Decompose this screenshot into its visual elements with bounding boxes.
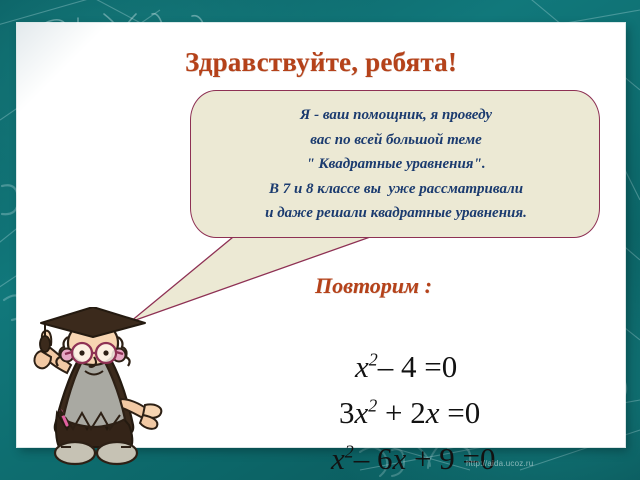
balloon-line-1: Я - ваш помощник, я проведу xyxy=(191,103,601,128)
equation-3-const: 9 xyxy=(439,441,455,476)
content-panel: Здравствуйте, ребята! Я - ваш помощник, … xyxy=(17,23,625,447)
repeat-heading: Повторим : xyxy=(315,273,432,299)
equation-3-power: 2 xyxy=(345,442,354,462)
equation-3-coef2: 6 xyxy=(377,441,393,476)
equation-3: x2– 6x + 9 =0 xyxy=(269,405,589,451)
balloon-line-3: " Квадратные уравнения". xyxy=(191,152,601,177)
balloon-line-2: вас по всей большой теме xyxy=(191,128,601,153)
watermark-url: http://aida.ucoz.ru xyxy=(466,459,533,468)
equation-3-var: x xyxy=(331,441,345,476)
equation-1: x2– 4 =0 xyxy=(293,313,613,359)
equation-2: 3x2 + 2x =0 xyxy=(277,359,597,405)
slide-root: Здравствуйте, ребята! Я - ваш помощник, … xyxy=(0,0,640,480)
equation-3-op2: + xyxy=(414,441,431,476)
equation-3-op1: – xyxy=(354,441,370,476)
speech-balloon-text: Я - ваш помощник, я проведу вас по всей … xyxy=(191,103,601,226)
wizard-professor-illustration xyxy=(21,307,169,467)
page-title: Здравствуйте, ребята! xyxy=(17,47,625,78)
balloon-line-4: В 7 и 8 классе вы уже рассматривали xyxy=(191,177,601,202)
equation-3-var2: x xyxy=(393,441,407,476)
speech-balloon: Я - ваш помощник, я проведу вас по всей … xyxy=(190,90,600,238)
equation-list: x2– 4 =0 3x2 + 2x =0 x2– 6x + 9 =0 xyxy=(269,313,589,451)
balloon-line-5: и даже решали квадратные уравнения. xyxy=(191,201,601,226)
